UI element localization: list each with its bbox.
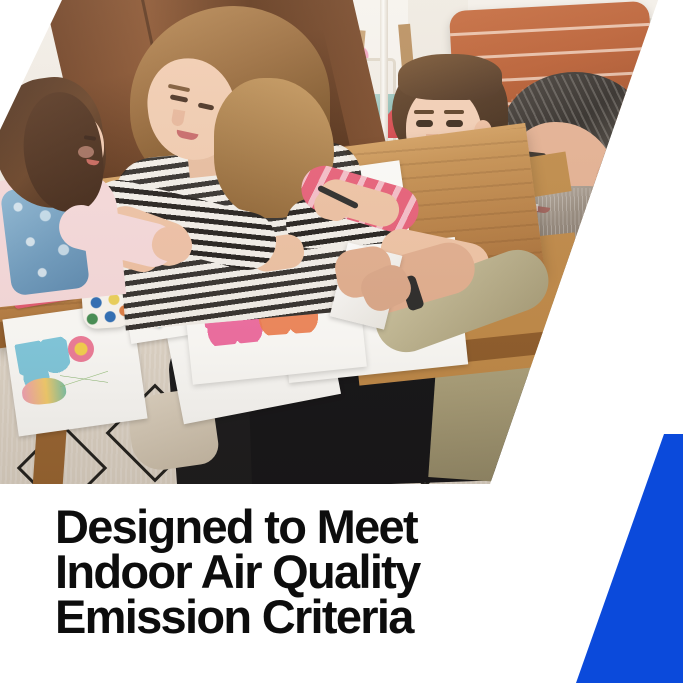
headline-block: Designed to Meet Indoor Air Quality Emis… [55, 504, 495, 639]
headline-line-3: Emission Criteria [55, 594, 495, 639]
family-crafting-photo [0, 0, 700, 484]
promo-card: Designed to Meet Indoor Air Quality Emis… [0, 0, 700, 700]
photo-color-grade [0, 0, 700, 484]
headline-line-2: Indoor Air Quality [55, 549, 495, 594]
headline-line-1: Designed to Meet [55, 504, 495, 549]
